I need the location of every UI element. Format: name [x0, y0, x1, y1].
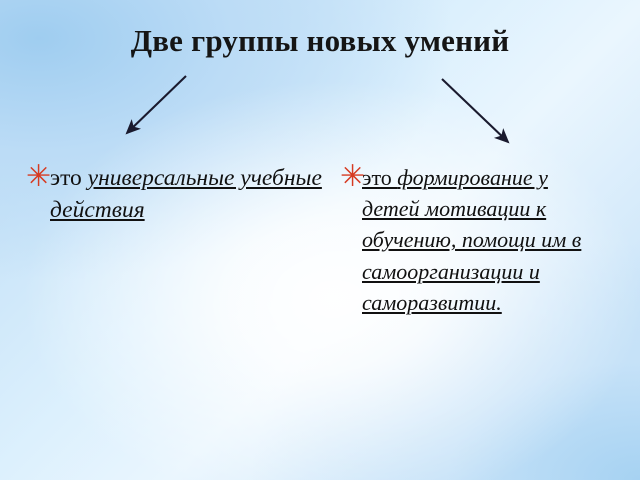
asterisk-bullet-icon: ✳	[340, 162, 365, 192]
arrow-to-left-bullet	[127, 76, 186, 133]
left-bullet: ✳ это универсальные учебные действия	[26, 162, 326, 227]
right-bullet: ✳ это формирование у детей мотивации к о…	[340, 162, 602, 318]
arrow-to-right-bullet	[442, 79, 508, 142]
left-bullet-text: это универсальные учебные действия	[26, 162, 326, 227]
asterisk-bullet-icon: ✳	[26, 162, 51, 192]
left-bullet-emphasis: универсальные учебные действия	[50, 165, 322, 223]
page-title: Две группы новых умений	[0, 24, 640, 59]
left-bullet-lead: это	[50, 165, 88, 191]
right-bullet-lead: это	[362, 165, 397, 190]
slide-canvas: Две группы новых умений ✳ это универсаль…	[0, 0, 640, 480]
right-bullet-text: это формирование у детей мотивации к обу…	[340, 162, 602, 318]
